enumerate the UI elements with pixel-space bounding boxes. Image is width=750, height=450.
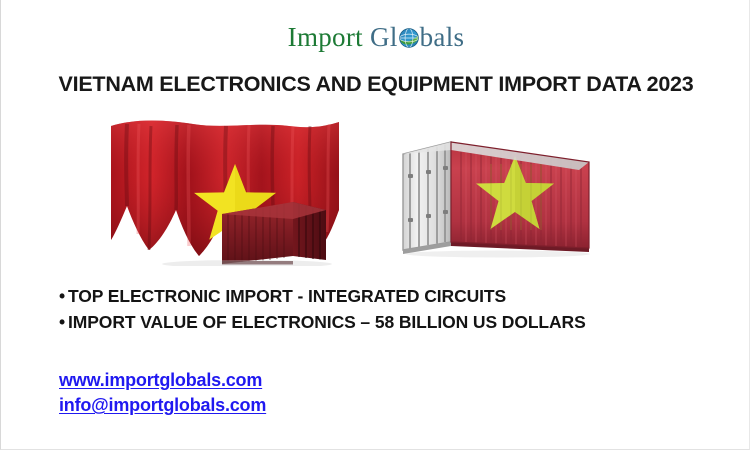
list-item: •IMPORT VALUE OF ELECTRONICS – 58 BILLIO… bbox=[59, 309, 719, 335]
bullet-marker-icon: • bbox=[59, 283, 68, 309]
list-item: •TOP ELECTRONIC IMPORT - INTEGRATED CIRC… bbox=[59, 283, 719, 309]
contact-block: www.importglobals.com info@importglobals… bbox=[59, 368, 266, 418]
email-link[interactable]: info@importglobals.com bbox=[59, 393, 266, 418]
vietnam-flag-with-container-photo bbox=[97, 114, 349, 266]
brand-logo[interactable]: Import Gl bbox=[1, 24, 750, 51]
promotional-banner: Import Gl bbox=[0, 0, 750, 450]
highlights-list: •TOP ELECTRONIC IMPORT - INTEGRATED CIRC… bbox=[59, 283, 719, 335]
brand-logo-import-text: Import bbox=[288, 22, 363, 52]
image-band bbox=[1, 112, 750, 267]
brand-logo-globals-prefix: Gl bbox=[370, 22, 398, 52]
vietnam-flag-shipping-container-photo bbox=[383, 126, 621, 258]
list-item-text: IMPORT VALUE OF ELECTRONICS – 58 BILLION… bbox=[68, 312, 586, 332]
list-item-text: TOP ELECTRONIC IMPORT - INTEGRATED CIRCU… bbox=[68, 286, 506, 306]
website-link[interactable]: www.importglobals.com bbox=[59, 368, 266, 393]
page-title: VIETNAM ELECTRONICS AND EQUIPMENT IMPORT… bbox=[1, 72, 750, 97]
brand-logo-globals-suffix: bals bbox=[420, 22, 465, 52]
bullet-marker-icon: • bbox=[59, 309, 68, 335]
globe-icon bbox=[398, 27, 420, 49]
